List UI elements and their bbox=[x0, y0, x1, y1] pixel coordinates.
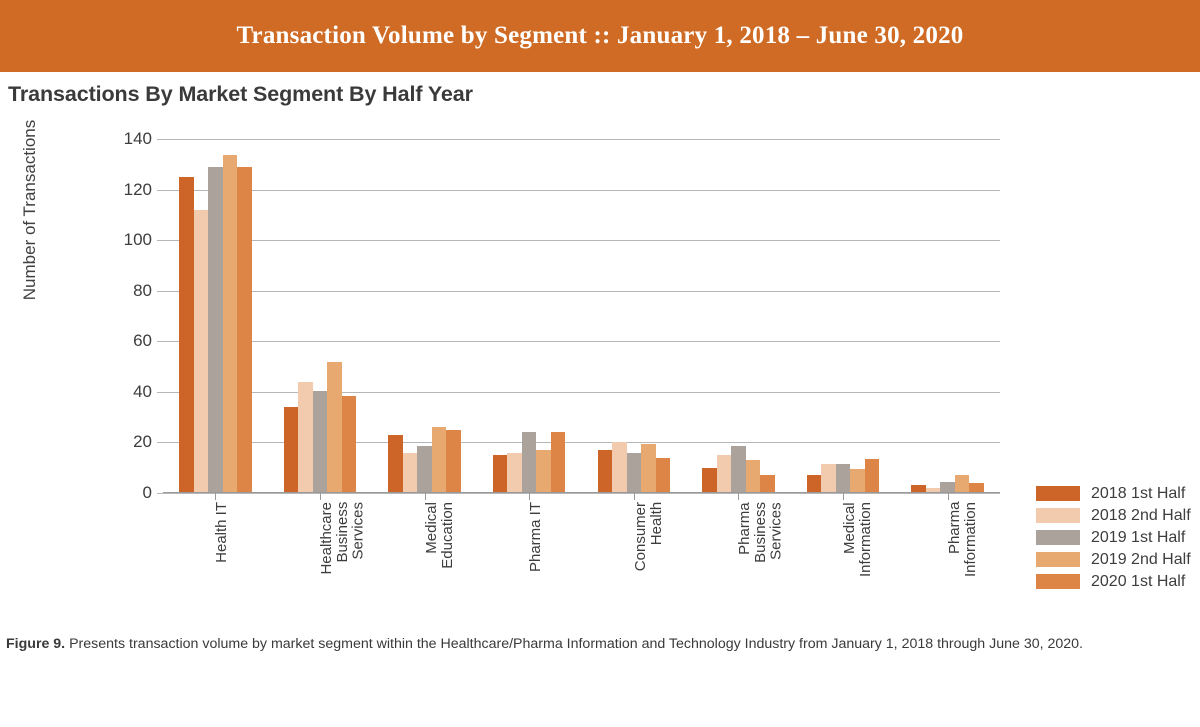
x-category-label: ConsumerHealth bbox=[633, 502, 665, 571]
x-tick-mark bbox=[529, 493, 530, 500]
bar[interactable] bbox=[865, 459, 880, 493]
x-category-label-line: Medical bbox=[424, 502, 440, 569]
bar[interactable] bbox=[760, 475, 775, 493]
bar[interactable] bbox=[403, 453, 418, 493]
bar[interactable] bbox=[955, 475, 970, 493]
bar[interactable] bbox=[702, 468, 717, 493]
legend-label: 2019 2nd Half bbox=[1091, 551, 1191, 569]
bar-group bbox=[807, 139, 880, 493]
y-tick-label: 120 bbox=[124, 180, 152, 200]
x-category-label-line: Services bbox=[350, 502, 366, 575]
x-category-label-line: Consumer bbox=[633, 502, 649, 571]
bar[interactable] bbox=[627, 453, 642, 493]
x-category-label-line: Education bbox=[439, 502, 455, 569]
legend-item[interactable]: 2019 1st Half bbox=[1036, 527, 1191, 548]
bar[interactable] bbox=[194, 210, 209, 493]
x-tick-mark bbox=[634, 493, 635, 500]
figure-chart: Number of Transactions 02040608010012014… bbox=[0, 0, 1200, 727]
x-category-label: Health IT bbox=[214, 502, 230, 563]
bar-group bbox=[493, 139, 566, 493]
caption-label: Figure 9. bbox=[6, 636, 65, 652]
x-category-label-line: Pharma IT bbox=[528, 502, 544, 572]
bar[interactable] bbox=[179, 177, 194, 493]
bar-group bbox=[388, 139, 461, 493]
x-category-label: PharmaBusinessServices bbox=[737, 502, 784, 563]
legend-swatch bbox=[1036, 530, 1080, 545]
legend-label: 2019 1st Half bbox=[1091, 529, 1185, 547]
bar[interactable] bbox=[850, 469, 865, 493]
legend: 2018 1st Half2018 2nd Half2019 1st Half2… bbox=[1036, 483, 1191, 593]
y-tick-label: 80 bbox=[133, 281, 152, 301]
bar[interactable] bbox=[298, 382, 313, 493]
x-category-label: PharmaInformation bbox=[947, 502, 979, 577]
bar[interactable] bbox=[313, 391, 328, 493]
bar[interactable] bbox=[598, 450, 613, 493]
y-tick-label: 40 bbox=[133, 382, 152, 402]
bar-group bbox=[911, 139, 984, 493]
bar[interactable] bbox=[417, 446, 432, 493]
legend-item[interactable]: 2018 2nd Half bbox=[1036, 505, 1191, 526]
x-tick-mark bbox=[425, 493, 426, 500]
bars-layer bbox=[163, 139, 1000, 493]
bar[interactable] bbox=[432, 427, 447, 493]
x-category-label-line: Healthcare bbox=[319, 502, 335, 575]
legend-label: 2018 2nd Half bbox=[1091, 507, 1191, 525]
y-tick-label: 140 bbox=[124, 129, 152, 149]
x-category-label-line: Information bbox=[962, 502, 978, 577]
legend-item[interactable]: 2018 1st Half bbox=[1036, 483, 1191, 504]
bar[interactable] bbox=[342, 396, 357, 493]
bar[interactable] bbox=[327, 362, 342, 493]
bar[interactable] bbox=[536, 450, 551, 493]
bar[interactable] bbox=[641, 444, 656, 493]
x-category-label-line: Pharma bbox=[947, 502, 963, 577]
bar[interactable] bbox=[746, 460, 761, 493]
x-category-label-line: Health bbox=[649, 502, 665, 571]
x-category-label-line: Health IT bbox=[214, 502, 230, 563]
bar[interactable] bbox=[807, 475, 822, 493]
figure-caption: Figure 9. Presents transaction volume by… bbox=[6, 634, 1182, 655]
y-tick-label: 100 bbox=[124, 230, 152, 250]
caption-text: Presents transaction volume by market se… bbox=[65, 636, 1083, 652]
legend-swatch bbox=[1036, 552, 1080, 567]
legend-swatch bbox=[1036, 574, 1080, 589]
x-category-label: HealthcareBusinessServices bbox=[319, 502, 366, 575]
bar-group bbox=[284, 139, 357, 493]
x-category-label: MedicalInformation bbox=[842, 502, 874, 577]
bar[interactable] bbox=[821, 464, 836, 493]
x-category-label: MedicalEducation bbox=[424, 502, 456, 569]
legend-swatch bbox=[1036, 486, 1080, 501]
x-category-label-line: Medical bbox=[842, 502, 858, 577]
bar[interactable] bbox=[717, 455, 732, 493]
legend-item[interactable]: 2019 2nd Half bbox=[1036, 549, 1191, 570]
legend-label: 2020 1st Half bbox=[1091, 573, 1185, 591]
bar[interactable] bbox=[731, 446, 746, 493]
bar-group bbox=[598, 139, 671, 493]
bar-group bbox=[702, 139, 775, 493]
y-tick-mark bbox=[157, 493, 163, 494]
bar[interactable] bbox=[493, 455, 508, 493]
legend-swatch bbox=[1036, 508, 1080, 523]
y-tick-label: 0 bbox=[143, 483, 152, 503]
bar-group bbox=[179, 139, 252, 493]
bar[interactable] bbox=[284, 407, 299, 493]
bar[interactable] bbox=[836, 464, 851, 493]
x-category-label-line: Business bbox=[335, 502, 351, 575]
x-category-label-line: Information bbox=[858, 502, 874, 577]
y-axis-title: Number of Transactions bbox=[20, 95, 40, 325]
legend-label: 2018 1st Half bbox=[1091, 485, 1185, 503]
x-axis-line bbox=[163, 492, 1000, 494]
legend-item[interactable]: 2020 1st Half bbox=[1036, 571, 1191, 592]
bar[interactable] bbox=[223, 155, 238, 493]
x-tick-mark bbox=[320, 493, 321, 500]
bar[interactable] bbox=[507, 453, 522, 493]
bar[interactable] bbox=[612, 442, 627, 493]
x-category-label: Pharma IT bbox=[528, 502, 544, 572]
bar[interactable] bbox=[446, 430, 461, 493]
y-tick-label: 60 bbox=[133, 331, 152, 351]
x-tick-mark bbox=[215, 493, 216, 500]
bar[interactable] bbox=[388, 435, 403, 493]
y-tick-label: 20 bbox=[133, 432, 152, 452]
bar[interactable] bbox=[237, 167, 252, 493]
bar[interactable] bbox=[551, 432, 566, 493]
x-category-label-line: Services bbox=[769, 502, 785, 563]
bar[interactable] bbox=[522, 432, 537, 493]
bar[interactable] bbox=[208, 167, 223, 493]
x-tick-mark bbox=[948, 493, 949, 500]
gridline bbox=[163, 493, 1000, 494]
x-tick-mark bbox=[843, 493, 844, 500]
plot-area: 020406080100120140 Health ITHealthcareBu… bbox=[163, 139, 1000, 493]
x-tick-mark bbox=[738, 493, 739, 500]
bar[interactable] bbox=[656, 458, 671, 493]
